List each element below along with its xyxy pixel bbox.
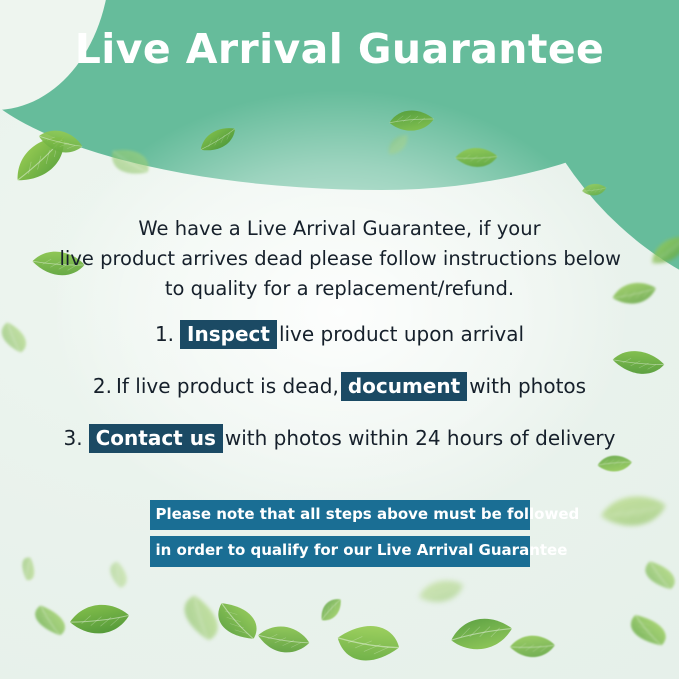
step-item-2: 2.If live product is dead,documentwith p… (0, 372, 679, 401)
notice-banner: Please note that all steps above must be… (150, 500, 530, 573)
step-item-3: 3.Contact uswith photos within 24 hours … (0, 424, 679, 453)
live-arrival-guarantee-poster: Live Arrival Guarantee We have a Live Ar… (0, 0, 679, 679)
step-1-number: 1. (155, 322, 174, 346)
step-3-highlight-contact-us: Contact us (89, 424, 223, 453)
step-3-post-text: with photos within 24 hours of delivery (225, 426, 616, 450)
intro-line-1: We have a Live Arrival Guarantee, if you… (60, 214, 620, 244)
page-title: Live Arrival Guarantee (0, 26, 679, 73)
intro-line-2: live product arrives dead please follow … (60, 244, 620, 274)
step-3-number: 3. (64, 426, 83, 450)
step-item-1: 1.Inspectlive product upon arrival (0, 320, 679, 349)
instruction-steps-list: 1.Inspectlive product upon arrival 2.If … (0, 320, 679, 476)
intro-paragraph: We have a Live Arrival Guarantee, if you… (60, 214, 620, 305)
notice-line-1: Please note that all steps above must be… (150, 500, 530, 530)
step-2-pre-text: If live product is dead, (116, 374, 339, 398)
intro-line-3: to quality for a replacement/refund. (60, 274, 620, 304)
step-1-highlight-inspect: Inspect (180, 320, 277, 349)
step-1-post-text: live product upon arrival (279, 322, 524, 346)
step-2-highlight-document: document (341, 372, 467, 401)
step-2-number: 2. (93, 374, 112, 398)
notice-line-2: in order to qualify for our Live Arrival… (150, 536, 530, 566)
step-2-post-text: with photos (469, 374, 586, 398)
